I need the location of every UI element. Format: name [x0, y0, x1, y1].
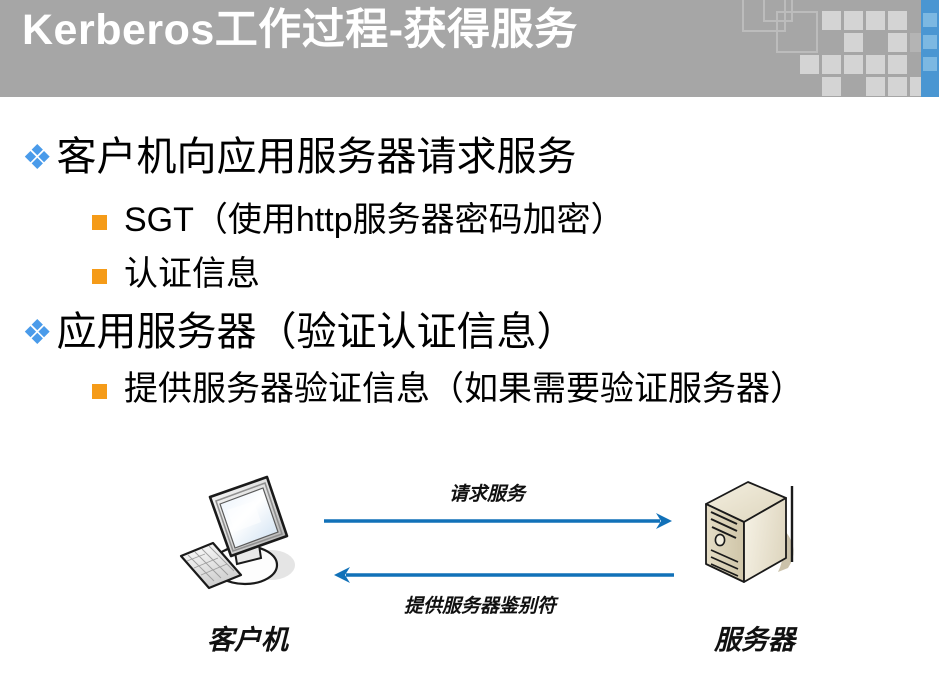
- client-computer-icon: [175, 470, 325, 595]
- bullet-item-5: 提供服务器验证信息（如果需要验证服务器）: [92, 372, 804, 406]
- slide: Kerberos工作过程-获得服务 ❖ 客户机向应用服务器请求服务 SGT（使用…: [0, 0, 939, 683]
- server-tower-icon: [700, 472, 825, 592]
- header-square: [844, 55, 863, 74]
- bullet-item-3: 认证信息: [92, 257, 260, 291]
- square-bullet-icon: [92, 269, 107, 284]
- header-square: [844, 11, 863, 30]
- square-bullet-icon: [92, 384, 107, 399]
- bullet-item-2: SGT（使用http服务器密码加密）: [92, 203, 625, 237]
- header-accent-bar: [921, 0, 939, 97]
- response-arrow: [328, 562, 678, 588]
- request-arrow-label: 请求服务: [449, 479, 525, 506]
- bullet-text: 提供服务器验证信息（如果需要验证服务器）: [124, 372, 804, 406]
- request-arrow: [320, 508, 680, 534]
- bullet-item-4: ❖ 应用服务器（验证认证信息）: [22, 312, 576, 352]
- header-square: [800, 55, 819, 74]
- diamond-bullet-icon: ❖: [22, 141, 52, 177]
- header-square: [888, 77, 907, 96]
- response-arrow-label: 提供服务器鉴别符: [404, 591, 556, 618]
- header-square: [822, 11, 841, 30]
- server-label: 服务器: [714, 618, 795, 657]
- header-square: [866, 11, 885, 30]
- bullet-text: SGT（使用http服务器密码加密）: [124, 203, 625, 237]
- header-square: [888, 11, 907, 30]
- header-square: [822, 55, 841, 74]
- header-accent-square: [923, 57, 937, 71]
- slide-header: Kerberos工作过程-获得服务: [0, 0, 939, 97]
- header-square: [888, 55, 907, 74]
- page-title: Kerberos工作过程-获得服务: [22, 9, 578, 52]
- header-square: [888, 33, 907, 52]
- square-bullet-icon: [92, 215, 107, 230]
- bullet-text: 应用服务器（验证认证信息）: [56, 312, 576, 352]
- header-accent-square: [923, 35, 937, 49]
- client-label: 客户机: [207, 618, 288, 657]
- header-accent-square: [923, 13, 937, 27]
- bullet-item-1: ❖ 客户机向应用服务器请求服务: [22, 137, 576, 177]
- header-square: [866, 55, 885, 74]
- header-square: [844, 33, 863, 52]
- header-square: [866, 77, 885, 96]
- bullet-text: 客户机向应用服务器请求服务: [56, 137, 576, 177]
- bullet-text: 认证信息: [124, 257, 260, 291]
- header-outline-square-3: [776, 11, 818, 53]
- header-square: [822, 77, 841, 96]
- diamond-bullet-icon: ❖: [22, 316, 52, 352]
